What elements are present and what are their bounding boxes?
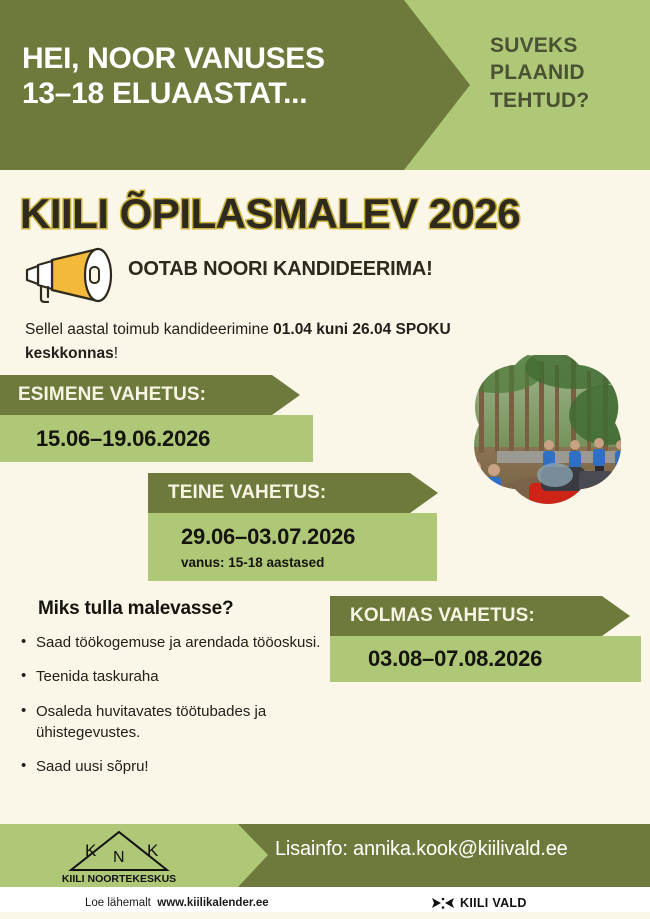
header-headline-line2: 13–18 ELUAASTAT... — [22, 77, 422, 112]
bullet-icon: • — [21, 665, 26, 686]
bottom-strip — [0, 912, 650, 919]
poster-root: HEI, NOOR VANUSES 13–18 ELUAASTAT... SUV… — [0, 0, 650, 919]
bullet-icon: • — [21, 755, 26, 776]
list-item-text: Saad uusi sõpru! — [36, 758, 149, 775]
kiili-vald-name: KIILI VALD — [460, 896, 527, 910]
camp-photo — [457, 355, 637, 531]
kiili-noortekeskus-logo: K N K KIILI NOORTEKESKUS — [57, 828, 182, 886]
kiili-vald-mark-icon — [432, 896, 454, 911]
shift-3-header: KOLMAS VAHETUS: — [330, 596, 630, 636]
shift-2-label: TEINE VAHETUS: — [168, 482, 326, 504]
intro-part1: Sellel aastal toimub kandideerimine — [25, 321, 273, 338]
shift-1-date: 15.06–19.06.2026 — [36, 426, 313, 452]
header-headline-line1: HEI, NOOR VANUSES — [22, 42, 422, 77]
header-banner: HEI, NOOR VANUSES 13–18 ELUAASTAT... SUV… — [0, 0, 650, 170]
shift-2-date: 29.06–03.07.2026 — [181, 524, 437, 550]
header-side-line3: TEHTUD? — [490, 87, 640, 114]
list-item-text: Osaleda huvitavates töötubades ja ühiste… — [36, 703, 266, 741]
header-side-line1: SUVEKS — [490, 32, 640, 59]
why-join-list: • Saad töökogemuse ja arendada tööoskusi… — [18, 632, 330, 790]
list-item-text: Teenida taskuraha — [36, 668, 159, 685]
shift-2-body: 29.06–03.07.2026 vanus: 15-18 aastased — [148, 513, 437, 581]
header-side-line2: PLAANID — [490, 59, 640, 86]
shift-1-header: ESIMENE VAHETUS: — [0, 375, 300, 415]
bullet-icon: • — [21, 631, 26, 652]
contact-email[interactable]: Lisainfo: annika.kook@kiilivald.ee — [275, 838, 568, 861]
shift-2-header: TEINE VAHETUS: — [148, 473, 438, 513]
shift-1-body: 15.06–19.06.2026 — [0, 415, 313, 462]
knk-letter-right: K — [147, 841, 159, 860]
shift-3-date: 03.08–07.08.2026 — [368, 646, 641, 672]
why-join-heading: Miks tulla malevasse? — [38, 598, 233, 620]
megaphone-row: OOTAB NOORI KANDIDEERIMA! — [22, 245, 632, 305]
shift-3-label: KOLMAS VAHETUS: — [350, 605, 535, 627]
bullet-icon: • — [21, 700, 26, 721]
header-side-question: SUVEKS PLAANID TEHTUD? — [490, 32, 640, 114]
read-more-label: Loe lähemalt — [85, 897, 151, 909]
knk-letter-left: K — [85, 841, 97, 860]
megaphone-caption: OOTAB NOORI KANDIDEERIMA! — [128, 258, 433, 281]
header-headline: HEI, NOOR VANUSES 13–18 ELUAASTAT... — [22, 42, 422, 112]
shift-2-age-note: vanus: 15-18 aastased — [181, 555, 437, 570]
read-more: Loe lähemalt www.kiilikalender.ee — [85, 897, 269, 909]
intro-part2: ! — [114, 345, 118, 362]
intro-dates: 01.04 kuni 26.04 — [273, 321, 391, 338]
page-title: KIILI ÕPILASMALEV 2026 — [20, 190, 640, 238]
shift-3-body: 03.08–07.08.2026 — [330, 636, 641, 682]
shift-1-label: ESIMENE VAHETUS: — [18, 384, 206, 406]
list-item-text: Saad töökogemuse ja arendada tööoskusi. — [36, 634, 320, 651]
list-item: • Saad töökogemuse ja arendada tööoskusi… — [18, 632, 330, 653]
list-item: • Saad uusi sõpru! — [18, 756, 330, 777]
knk-letter-mid: N — [113, 849, 125, 866]
intro-paragraph: Sellel aastal toimub kandideerimine 01.0… — [25, 318, 495, 366]
kiili-vald-logo: KIILI VALD — [432, 895, 527, 911]
megaphone-icon — [22, 247, 122, 303]
list-item: • Osaleda huvitavates töötubades ja ühis… — [18, 701, 330, 744]
list-item: • Teenida taskuraha — [18, 666, 330, 687]
read-more-url[interactable]: www.kiilikalender.ee — [157, 897, 268, 909]
knk-caption: KIILI NOORTEKESKUS — [62, 873, 176, 885]
